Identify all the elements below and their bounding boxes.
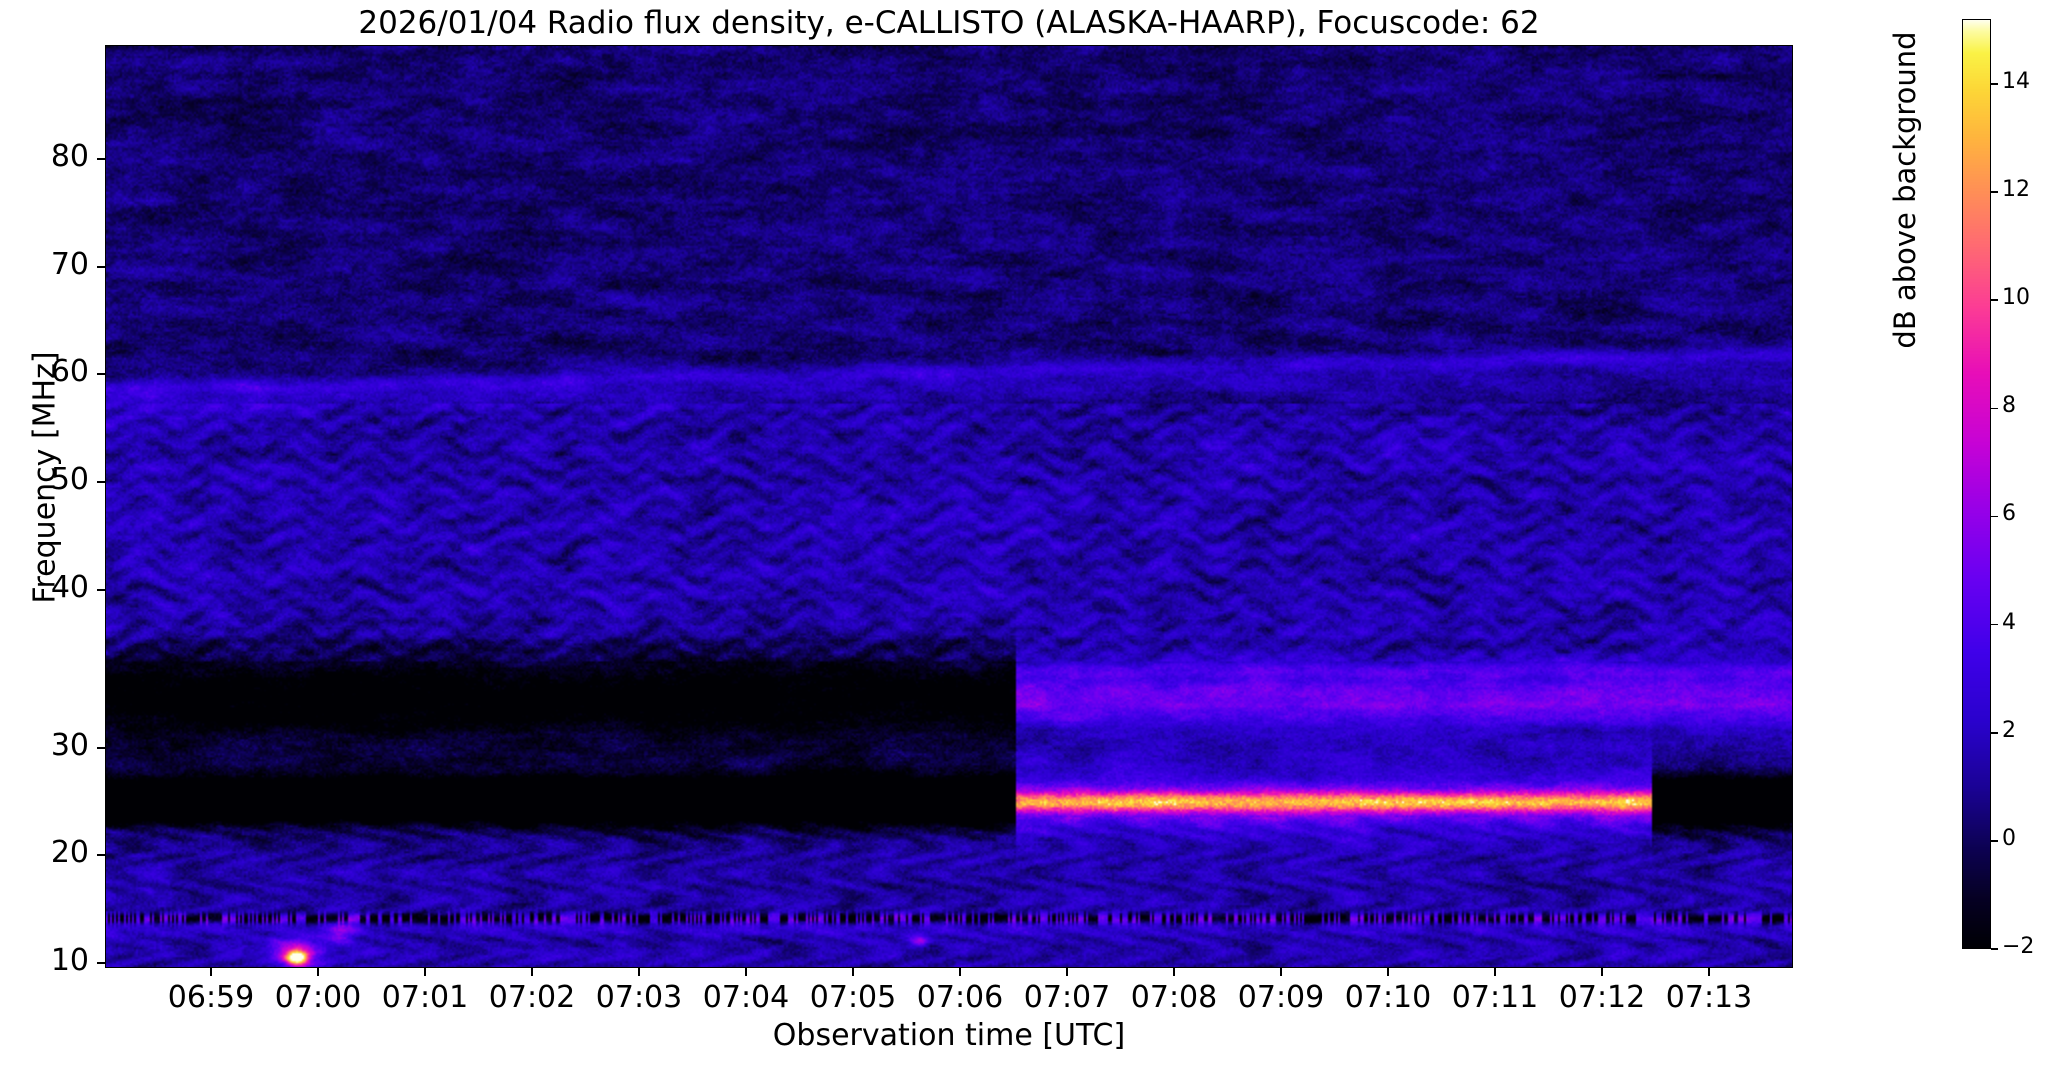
x-tick-label: 07:09 xyxy=(1221,980,1341,1015)
x-tick-mark xyxy=(638,968,640,976)
x-tick-label: 06:59 xyxy=(151,980,271,1015)
y-tick-label: 10 xyxy=(9,943,89,978)
x-tick-mark xyxy=(745,968,747,976)
colorbar-tick-mark xyxy=(1991,840,1998,842)
x-tick-label: 07:12 xyxy=(1542,980,1662,1015)
colorbar-tick-mark xyxy=(1991,624,1998,626)
y-tick-label: 30 xyxy=(9,728,89,763)
x-tick-mark xyxy=(1280,968,1282,976)
y-tick-mark xyxy=(97,266,105,268)
x-tick-label: 07:07 xyxy=(1007,980,1127,1015)
colorbar-tick-mark xyxy=(1991,516,1998,518)
x-tick-mark xyxy=(852,968,854,976)
x-tick-label: 07:06 xyxy=(900,980,1020,1015)
y-tick-label: 80 xyxy=(9,139,89,174)
y-tick-mark xyxy=(97,747,105,749)
spectrogram-image xyxy=(106,46,1793,968)
page-title: 2026/01/04 Radio flux density, e-CALLIST… xyxy=(105,6,1793,40)
x-tick-label: 07:04 xyxy=(686,980,806,1015)
x-tick-mark xyxy=(1708,968,1710,976)
y-tick-mark xyxy=(97,158,105,160)
colorbar-tick-label: −2 xyxy=(2002,934,2034,959)
colorbar-tick-label: 6 xyxy=(2002,501,2016,526)
colorbar-tick-mark xyxy=(1991,408,1998,410)
colorbar-tick-mark xyxy=(1991,948,1998,950)
x-tick-label: 07:01 xyxy=(365,980,485,1015)
x-axis-label: Observation time [UTC] xyxy=(105,1018,1793,1053)
colorbar-tick-label: 8 xyxy=(2002,393,2016,418)
colorbar-tick-mark xyxy=(1991,191,1998,193)
y-tick-mark xyxy=(97,854,105,856)
colorbar-tick-label: 14 xyxy=(2002,69,2030,94)
colorbar-tick-label: 4 xyxy=(2002,610,2016,635)
colorbar-tick-mark xyxy=(1991,732,1998,734)
colorbar-tick-mark xyxy=(1991,83,1998,85)
y-tick-label: 60 xyxy=(9,354,89,389)
x-tick-mark xyxy=(1173,968,1175,976)
x-tick-label: 07:05 xyxy=(793,980,913,1015)
colorbar-label: dB above background xyxy=(1888,0,1922,470)
y-tick-label: 70 xyxy=(9,247,89,282)
x-tick-mark xyxy=(1387,968,1389,976)
x-tick-mark xyxy=(317,968,319,976)
x-tick-label: 07:03 xyxy=(579,980,699,1015)
y-tick-mark xyxy=(97,589,105,591)
x-tick-mark xyxy=(1494,968,1496,976)
x-tick-mark xyxy=(531,968,533,976)
colorbar-gradient xyxy=(1963,20,1991,949)
y-tick-label: 50 xyxy=(9,462,89,497)
x-tick-mark xyxy=(210,968,212,976)
y-tick-label: 20 xyxy=(9,835,89,870)
colorbar-tick-label: 0 xyxy=(2002,826,2016,851)
x-tick-label: 07:02 xyxy=(472,980,592,1015)
y-tick-label: 40 xyxy=(9,570,89,605)
colorbar-tick-label: 2 xyxy=(2002,718,2016,743)
y-tick-mark xyxy=(97,373,105,375)
x-tick-label: 07:08 xyxy=(1114,980,1234,1015)
colorbar-tick-label: 12 xyxy=(2002,177,2030,202)
x-tick-mark xyxy=(424,968,426,976)
x-tick-mark xyxy=(1601,968,1603,976)
y-tick-mark xyxy=(97,481,105,483)
figure-root: 2026/01/04 Radio flux density, e-CALLIST… xyxy=(0,0,2047,1067)
x-tick-label: 07:10 xyxy=(1328,980,1448,1015)
x-tick-mark xyxy=(1066,968,1068,976)
colorbar-tick-label: 10 xyxy=(2002,285,2030,310)
x-tick-mark xyxy=(959,968,961,976)
x-tick-label: 07:00 xyxy=(258,980,378,1015)
colorbar[interactable] xyxy=(1962,19,1991,949)
spectrogram-axes[interactable] xyxy=(105,45,1793,968)
x-tick-label: 07:11 xyxy=(1435,980,1555,1015)
x-tick-label: 07:13 xyxy=(1649,980,1769,1015)
y-tick-mark xyxy=(97,962,105,964)
colorbar-tick-mark xyxy=(1991,299,1998,301)
